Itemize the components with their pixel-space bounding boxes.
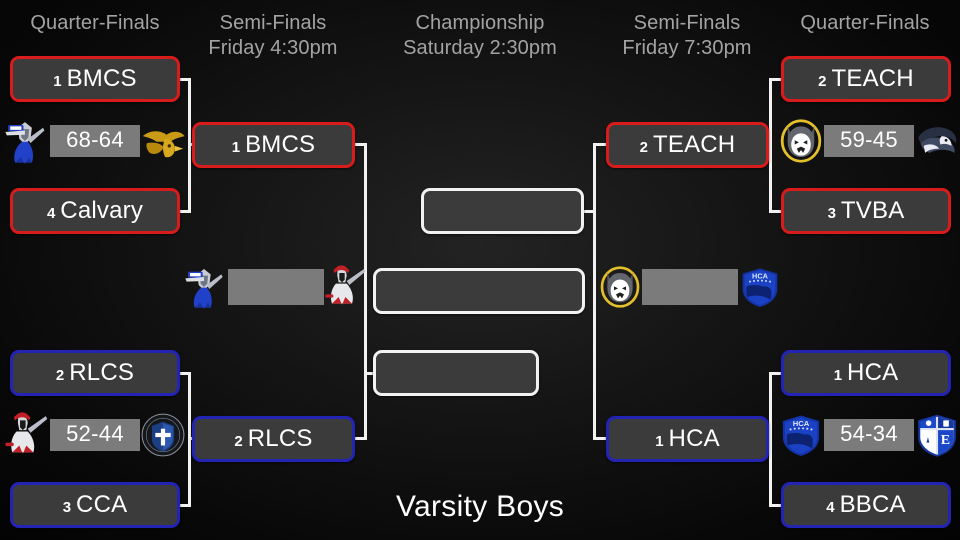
connector-line [583,210,595,213]
tvba-panther-logo [914,118,960,164]
team-name: TEACH [653,131,735,159]
cca-knights-logo [140,412,186,458]
match-box-right-qf2-team1[interactable]: 1 HCA [781,350,951,396]
score-label [228,269,324,305]
team-name: TEACH [832,65,914,93]
team-name: HCA [847,359,898,387]
team-name: TVBA [841,197,904,225]
seed-number: 1 [655,433,663,450]
bmcs-knight-logo [184,265,228,309]
match-box-right-sf2[interactable]: 1 HCA [606,416,769,462]
connector-line [593,437,607,440]
team-name: RLCS [248,425,313,453]
score-label: 52-44 [50,419,140,451]
match-box-right-sf1[interactable]: 2 TEACH [606,122,769,168]
score-row-right-qf1: 59-45 [778,118,960,164]
hca-shield-logo [738,265,782,309]
championship-slot-bottom[interactable] [373,350,539,396]
team-name: BMCS [245,131,315,159]
seed-number: 2 [234,433,242,450]
score-label: 54-34 [824,419,914,451]
score-row-right-sf [598,265,782,309]
seed-number: 2 [818,73,826,90]
seed-number: 3 [828,205,836,222]
connector-line [593,143,596,438]
seed-number: 1 [834,367,842,384]
match-box-left-qf1-team1[interactable]: 1 BMCS [10,56,180,102]
score-row-left-sf [184,265,368,309]
match-box-left-qf2-team1[interactable]: 2 RLCS [10,350,180,396]
connector-line [353,437,367,440]
bmcs-knight-logo [4,118,50,164]
match-box-left-qf1-team2[interactable]: 4 Calvary [10,188,180,234]
seed-number: 2 [640,139,648,156]
team-name: HCA [669,425,720,453]
match-box-right-qf1-team1[interactable]: 2 TEACH [781,56,951,102]
seed-number: 2 [56,367,64,384]
score-row-right-qf2: 54-34 [778,412,960,458]
score-label: 68-64 [50,125,140,157]
seed-number: 1 [53,73,61,90]
page-title: Varsity Boys [0,490,960,524]
seed-number: 4 [47,205,55,222]
calvary-eagle-logo [140,118,186,164]
match-box-left-sf1[interactable]: 1 BMCS [192,122,355,168]
match-box-right-qf1-team2[interactable]: 3 TVBA [781,188,951,234]
score-label: 59-45 [824,125,914,157]
championship-slot-top[interactable] [421,188,584,234]
score-row-left-qf1: 68-64 [4,118,186,164]
rlcs-swordsmen-logo [324,265,368,309]
score-label [642,269,738,305]
seed-number: 1 [232,139,240,156]
teach-wolf-logo [778,118,824,164]
team-name: RLCS [69,359,134,387]
championship-slot-middle[interactable] [373,268,585,314]
match-box-left-sf2[interactable]: 2 RLCS [192,416,355,462]
team-name: BMCS [67,65,137,93]
teach-wolf-logo [598,265,642,309]
hca-shield-logo [778,412,824,458]
score-row-left-qf2: 52-44 [4,412,186,458]
rlcs-swordsmen-logo [4,412,50,458]
bbca-shield-logo [914,412,960,458]
team-name: Calvary [60,197,143,225]
